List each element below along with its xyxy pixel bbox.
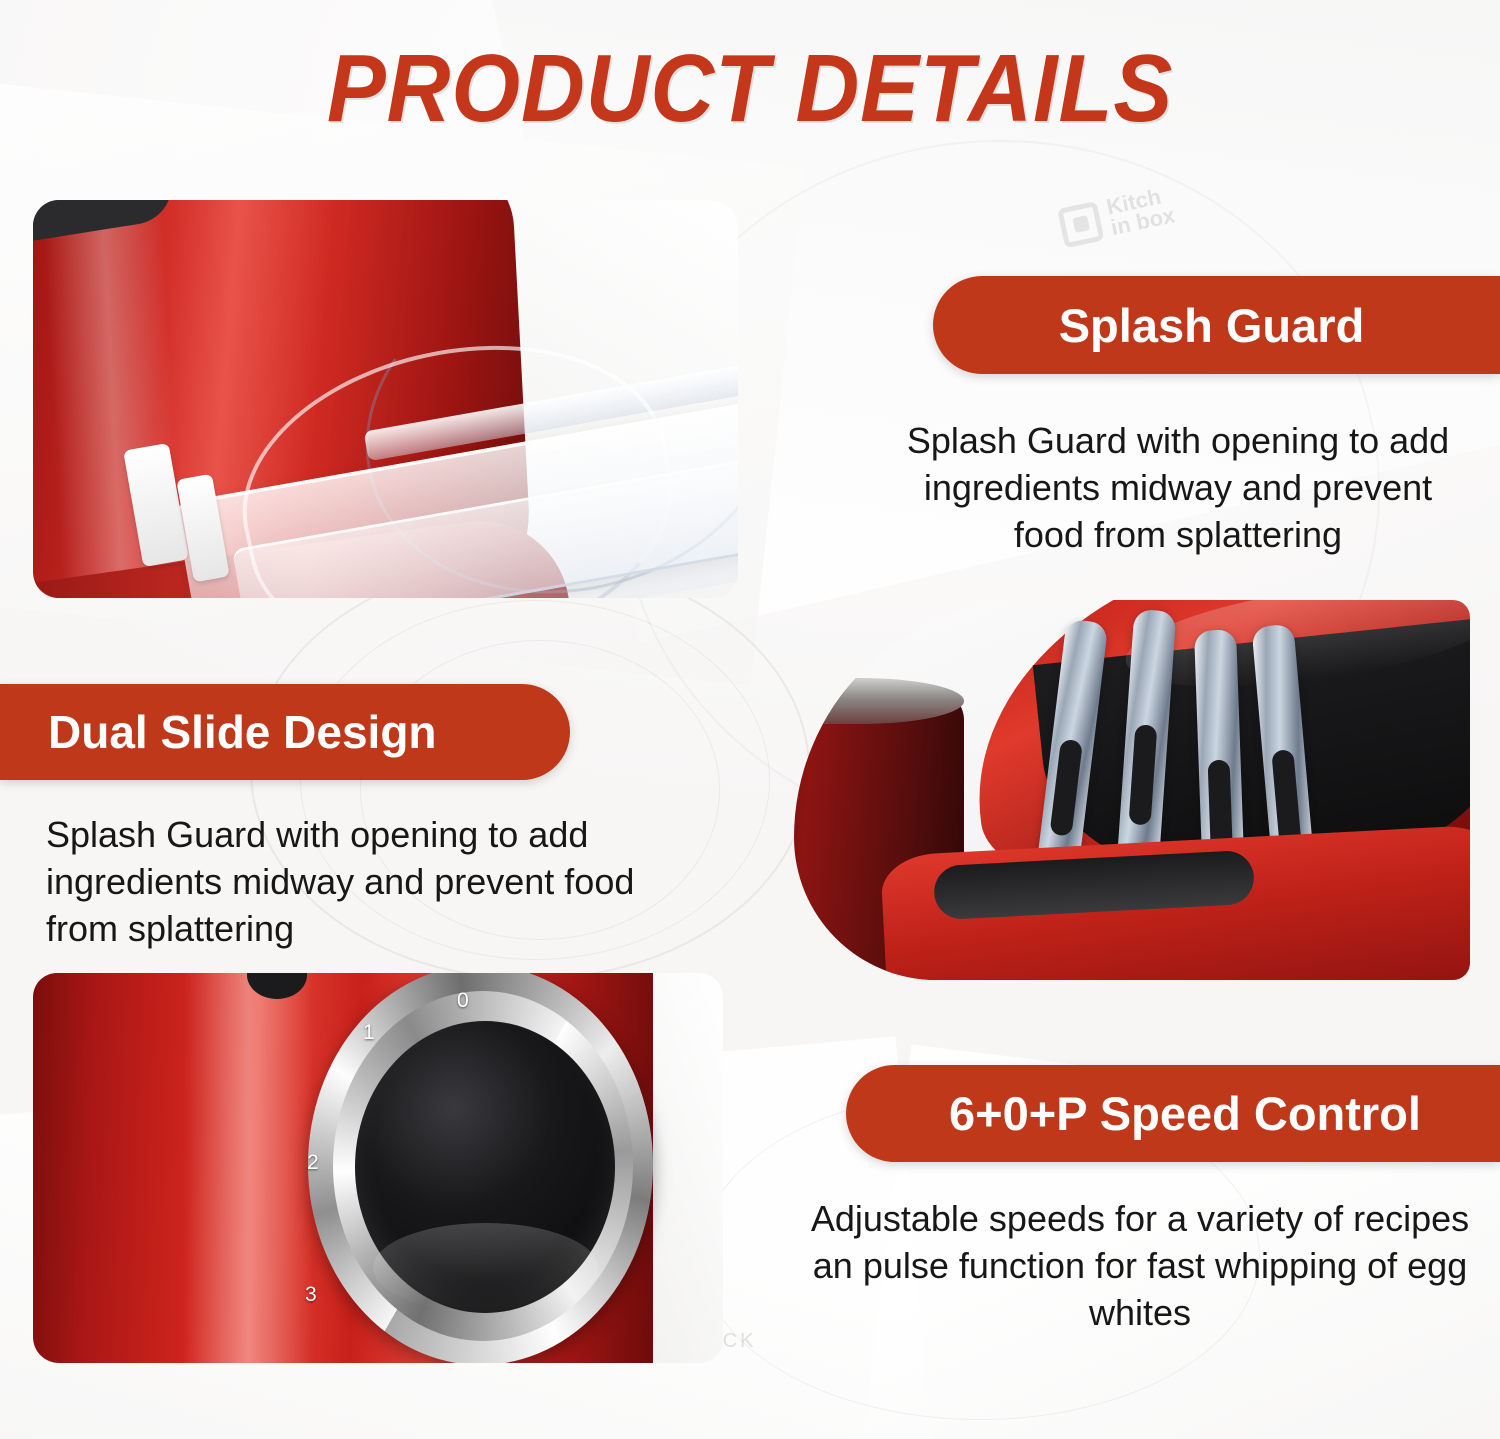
banner-speed-control: 6+0+P Speed Control xyxy=(846,1065,1500,1162)
dial-marking-0: 0 xyxy=(457,989,469,1013)
description-dual-slide-design: Splash Guard with opening to add ingredi… xyxy=(46,812,706,952)
banner-speed-control-label: 6+0+P Speed Control xyxy=(949,1086,1421,1141)
photo-dial-body-highlight xyxy=(183,973,313,1363)
page-title: PRODUCT DETAILS xyxy=(60,34,1440,144)
banner-splash-guard-label: Splash Guard xyxy=(1059,298,1365,353)
photo-speed-dial: 0 1 2 3 4 5 6 xyxy=(33,973,723,1363)
banner-dual-slide-design: Dual Slide Design xyxy=(0,684,570,780)
banner-dual-slide-design-label: Dual Slide Design xyxy=(48,705,437,759)
description-splash-guard: Splash Guard with opening to add ingredi… xyxy=(888,418,1468,558)
dial-marking-3: 3 xyxy=(305,1283,317,1307)
dial-marking-1: 1 xyxy=(363,1021,375,1045)
dial-marking-2: 2 xyxy=(307,1151,319,1175)
brand-logo-icon xyxy=(1057,201,1104,248)
photo-splash-guard xyxy=(33,200,738,598)
photo-dial-knob-sheen xyxy=(373,1223,598,1313)
description-speed-control: Adjustable speeds for a variety of recip… xyxy=(806,1196,1474,1336)
banner-splash-guard: Splash Guard xyxy=(933,276,1500,374)
photo-beaters xyxy=(794,600,1470,980)
